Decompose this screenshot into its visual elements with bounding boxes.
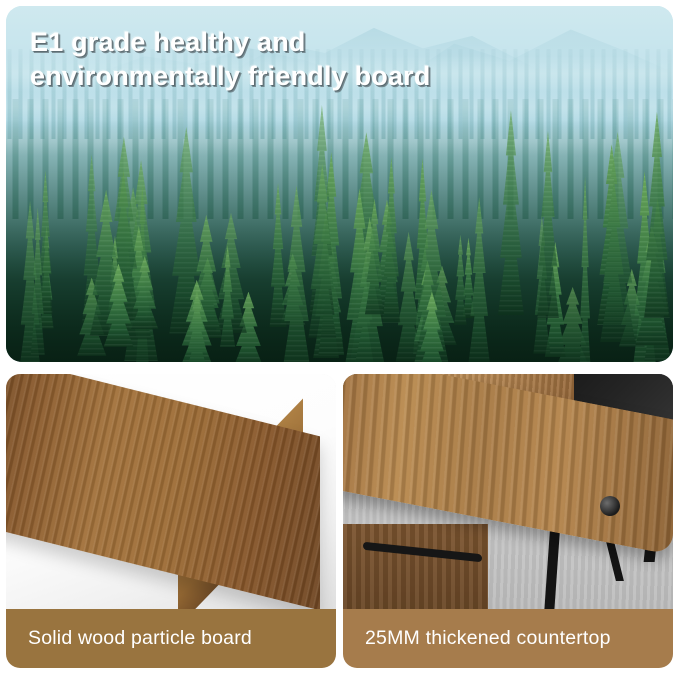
caption-text-left: Solid wood particle board — [28, 627, 252, 650]
conifer-tree — [266, 183, 290, 327]
caption-bar-left: Solid wood particle board — [6, 609, 336, 668]
conifer-tree-layer — [6, 120, 673, 362]
forest-banner: E1 grade healthy and environmentally fri… — [6, 6, 673, 362]
modesty-panel — [343, 524, 488, 609]
desk-corner-photo — [343, 374, 673, 609]
feature-panel-left: Solid wood particle board — [6, 374, 336, 668]
conifer-tree — [493, 110, 529, 315]
wood-board-photo — [6, 374, 336, 609]
feature-panel-right: 25MM thickened countertop — [343, 374, 673, 668]
caption-text-right: 25MM thickened countertop — [365, 627, 611, 650]
product-feature-image: E1 grade healthy and environmentally fri… — [0, 0, 679, 674]
caption-bar-right: 25MM thickened countertop — [343, 609, 673, 668]
banner-headline: E1 grade healthy and environmentally fri… — [30, 25, 431, 93]
foreground-forest — [6, 120, 673, 362]
